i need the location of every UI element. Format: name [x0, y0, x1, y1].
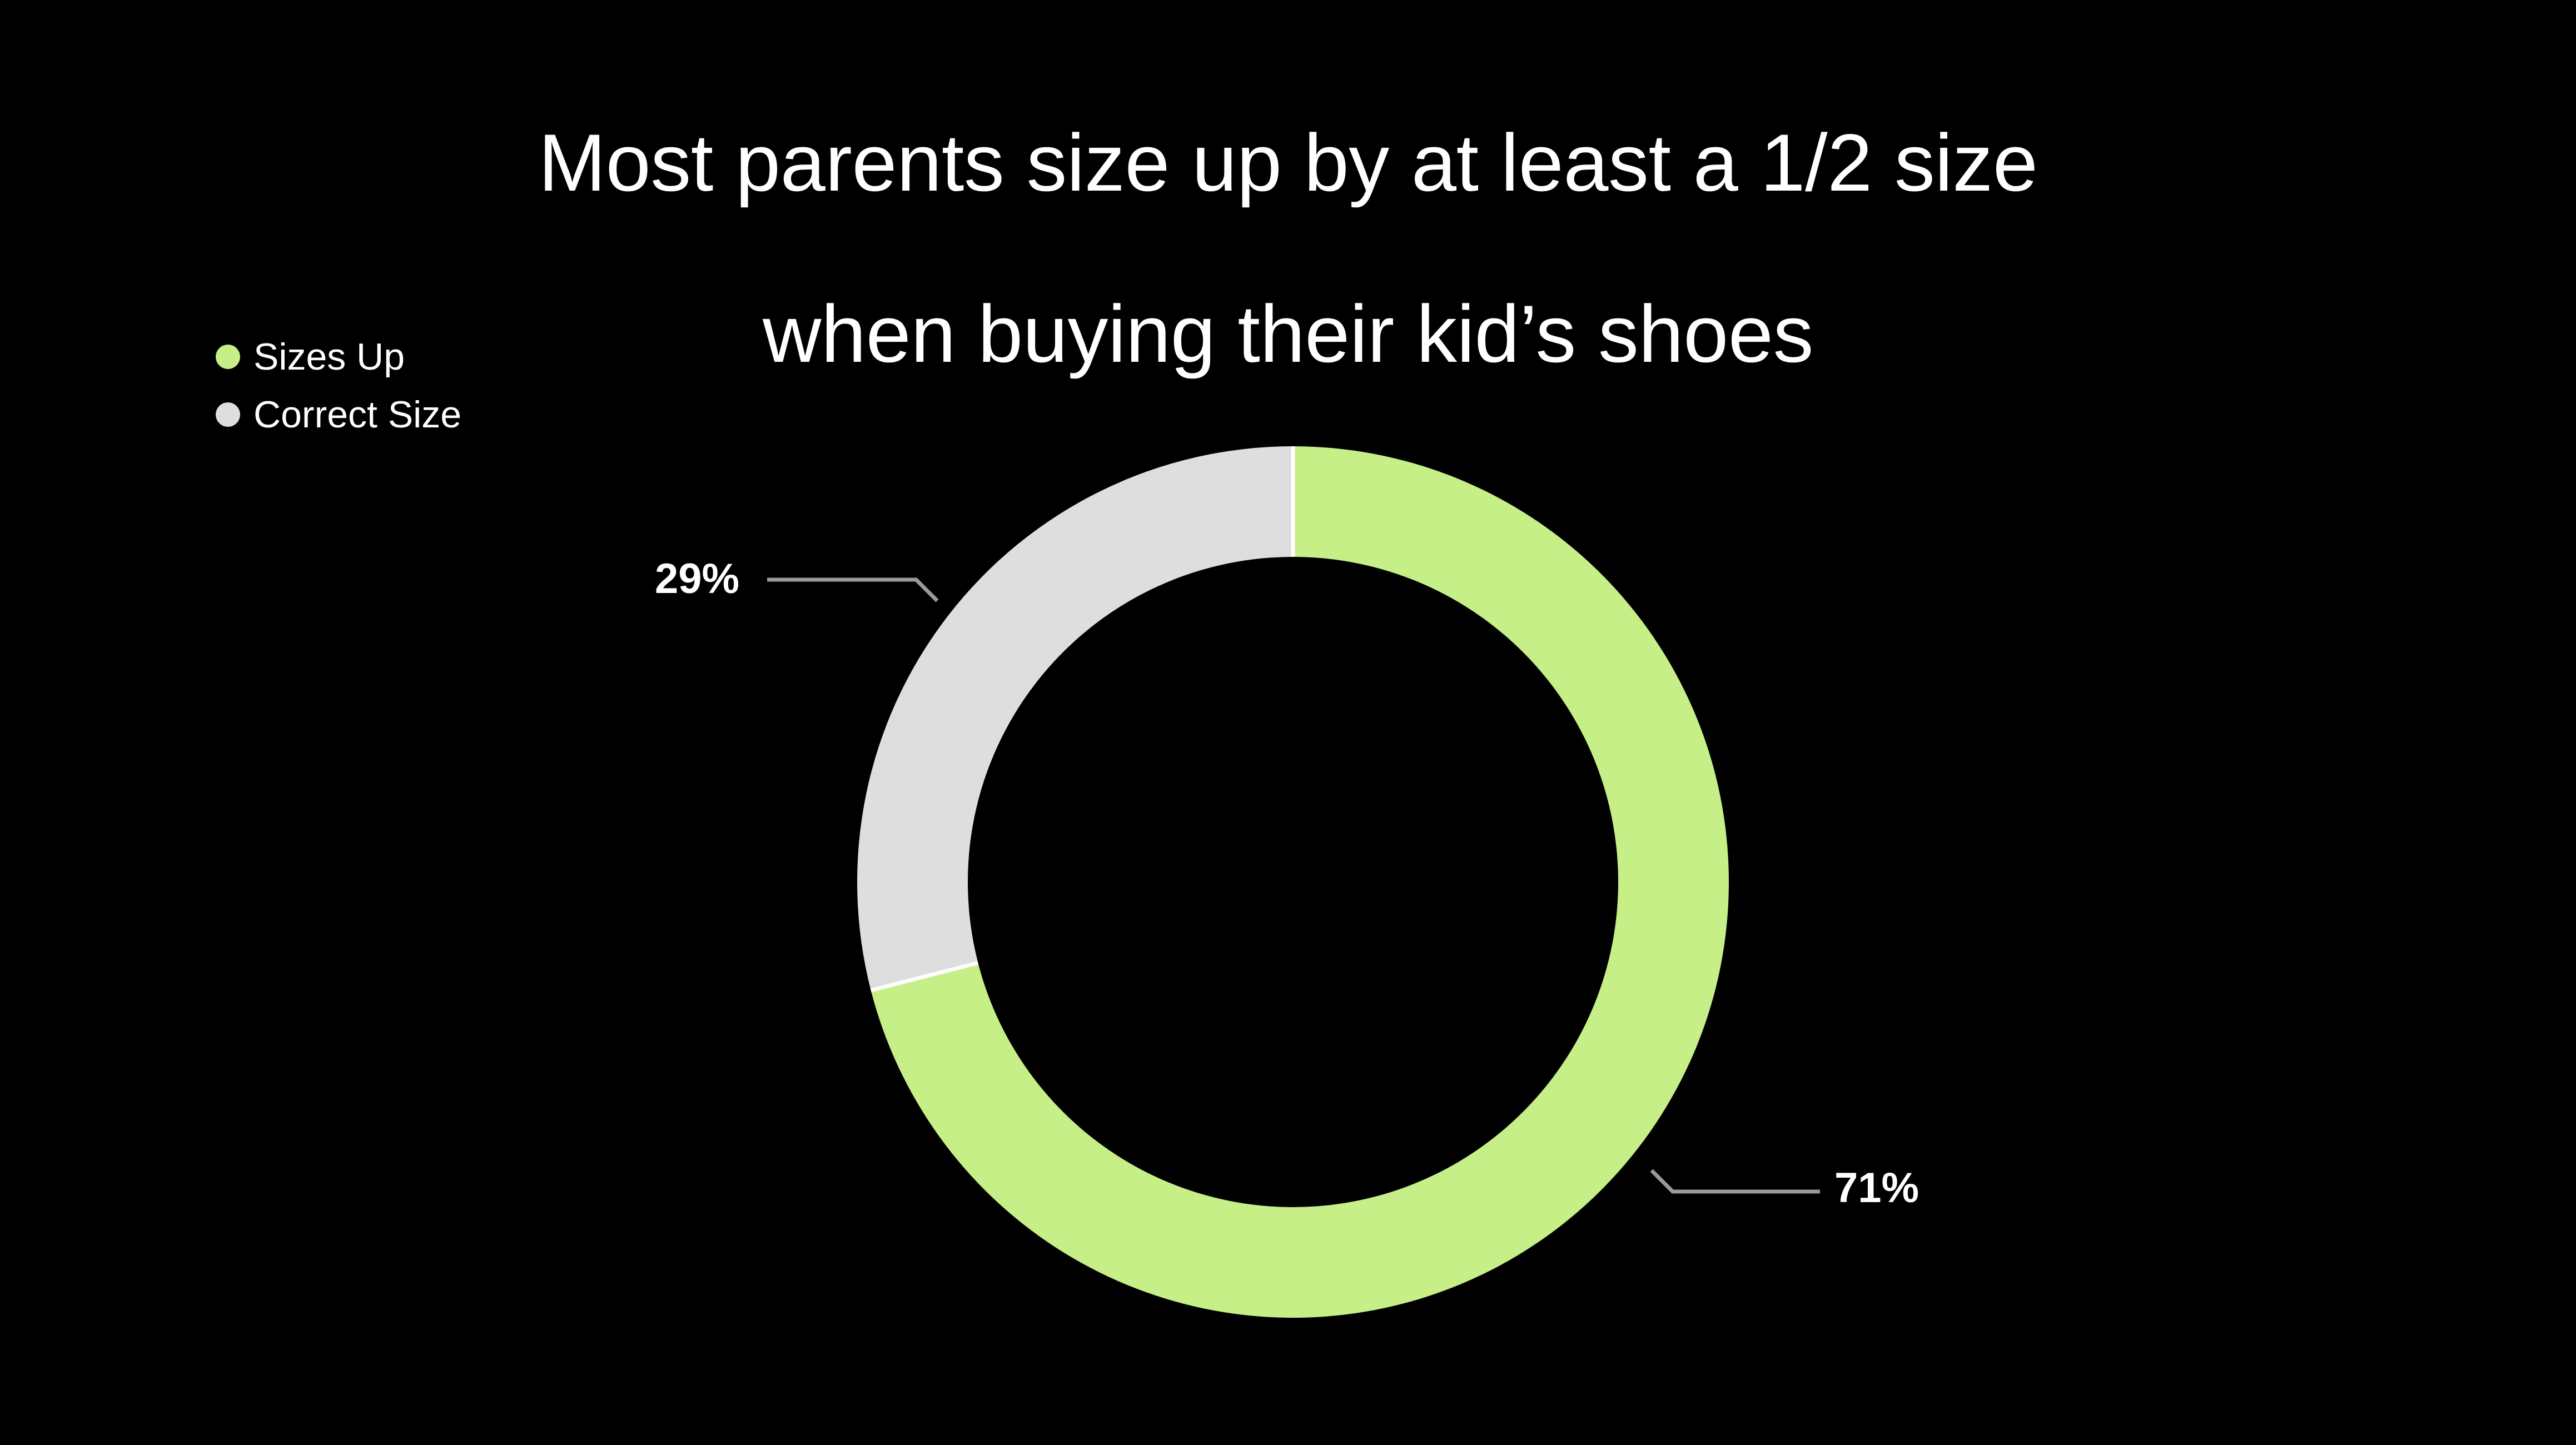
data-label-correct-size: 29% — [655, 558, 739, 600]
donut-slice-correct-size[interactable] — [857, 446, 1293, 990]
data-label-sizes-up: 71% — [1834, 1167, 1919, 1209]
slide-canvas: Most parents size up by at least a 1/2 s… — [0, 0, 2576, 1445]
donut-chart — [0, 0, 2576, 1445]
callout-leader-line-right — [1652, 1170, 1820, 1192]
donut-ring-group — [857, 446, 1729, 1318]
callout-leader-line-left — [767, 580, 937, 601]
